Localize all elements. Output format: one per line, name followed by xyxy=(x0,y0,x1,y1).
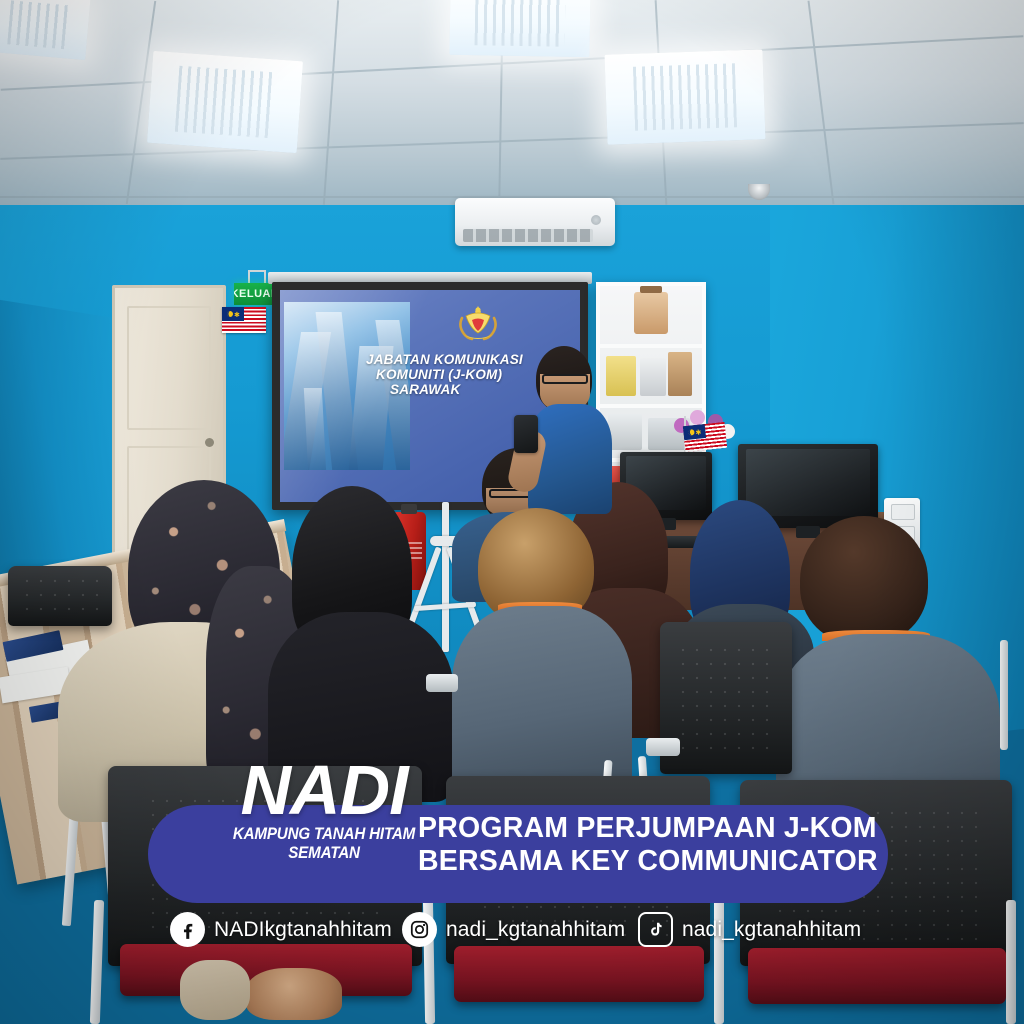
ceiling-light xyxy=(147,51,303,153)
instagram-handle[interactable]: nadi_kgtanahhitam xyxy=(446,918,625,942)
nadi-logo: NADI KAMPUNG TANAH HITAM SEMATAN xyxy=(224,757,424,863)
ceiling-light xyxy=(604,49,765,144)
social-instagram[interactable]: nadi_kgtanahhitam xyxy=(402,912,625,947)
facebook-handle[interactable]: NADIkgtanahhitam xyxy=(214,918,392,942)
ceiling-light xyxy=(449,0,590,57)
banner-title-line2: BERSAMA KEY COMMUNICATOR xyxy=(418,845,878,878)
eyeglasses xyxy=(542,374,588,384)
social-tiktok[interactable]: nadi_kgtanahhitam xyxy=(638,912,861,947)
shelf-jar xyxy=(634,292,668,334)
malaysia-table-flag: ✱ xyxy=(683,422,727,452)
exit-sign: KELUAR xyxy=(234,283,276,305)
tiktok-handle[interactable]: nadi_kgtanahhitam xyxy=(682,918,861,942)
banner-title: PROGRAM PERJUMPAAN J-KOM BERSAMA KEY COM… xyxy=(418,812,878,878)
split-air-conditioner xyxy=(455,198,615,246)
nadi-subtitle-line2: SEMATAN xyxy=(232,844,416,863)
social-media-post-image: KELUAR ✱ xyxy=(0,0,1024,1024)
bare-foot xyxy=(246,968,342,1020)
banner-title-line1: PROGRAM PERJUMPAAN J-KOM xyxy=(418,812,878,845)
floor-bag xyxy=(180,960,250,1020)
nadi-wordmark: NADI xyxy=(224,757,424,823)
ceiling xyxy=(0,0,1024,205)
chair xyxy=(8,566,112,626)
aircon-led xyxy=(591,215,601,225)
tiktok-icon[interactable] xyxy=(638,912,673,947)
door-knob xyxy=(205,438,214,447)
social-facebook[interactable]: NADIkgtanahhitam xyxy=(170,912,392,947)
mobile-phone xyxy=(514,415,538,453)
social-media-row: NADIkgtanahhitam nadi_kgtanahhitam nadi_… xyxy=(170,906,930,958)
instagram-icon[interactable] xyxy=(402,912,437,947)
ceiling-light xyxy=(0,0,91,60)
malaysia-flag: ✱ xyxy=(222,307,266,333)
nadi-subtitle-line1: KAMPUNG TANAH HITAM xyxy=(232,825,416,844)
facebook-icon[interactable] xyxy=(170,912,205,947)
